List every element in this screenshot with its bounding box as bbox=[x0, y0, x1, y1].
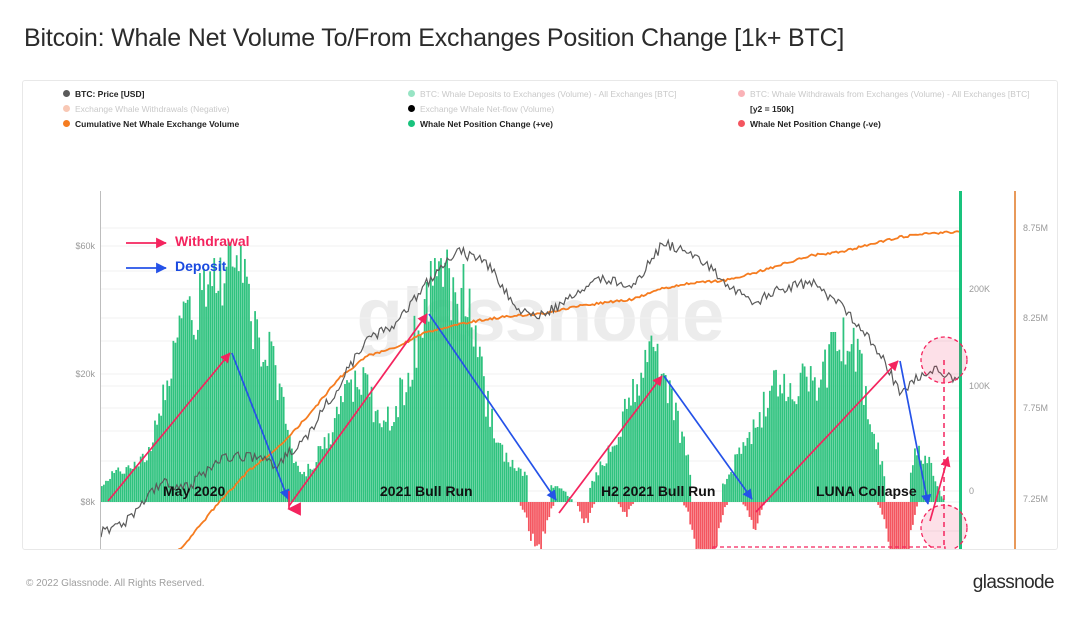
net-position-change-bars bbox=[101, 242, 944, 550]
phase-label-3: LUNA Collapse bbox=[816, 483, 917, 499]
y-tick-price-2: $8k bbox=[51, 497, 95, 507]
chart-card: BTC: Price [USD] Exchange Whale Withdraw… bbox=[22, 80, 1058, 550]
y2-tick-1: 100K bbox=[969, 381, 990, 391]
y-tick-price-0: $60k bbox=[51, 241, 95, 251]
y3-tick-1: 8.25M bbox=[1023, 313, 1048, 323]
callout-box bbox=[713, 547, 945, 550]
footer-copyright: © 2022 Glassnode. All Rights Reserved. bbox=[26, 578, 205, 589]
phase-label-2: H2 2021 Bull Run bbox=[601, 483, 715, 499]
y3-tick-2: 7.75M bbox=[1023, 403, 1048, 413]
annotation-withdrawal-label: Withdrawal bbox=[175, 233, 250, 249]
annotation-deposit-label: Deposit bbox=[175, 258, 226, 274]
phase-label-1: 2021 Bull Run bbox=[380, 483, 473, 499]
footer-logo: glassnode bbox=[973, 572, 1054, 594]
annotation-key-arrows bbox=[126, 243, 166, 268]
local-top-highlight bbox=[921, 337, 967, 550]
phase-label-0: May 2020 bbox=[163, 483, 225, 499]
y3-tick-0: 8.75M bbox=[1023, 223, 1048, 233]
y2-tick-2: 0 bbox=[969, 486, 974, 496]
page-title: Bitcoin: Whale Net Volume To/From Exchan… bbox=[24, 24, 1064, 53]
y3-tick-3: 7.25M bbox=[1023, 494, 1048, 504]
y-tick-price-1: $20k bbox=[51, 369, 95, 379]
chart-plot-area bbox=[23, 81, 1058, 550]
y2-tick-0: 200K bbox=[969, 284, 990, 294]
